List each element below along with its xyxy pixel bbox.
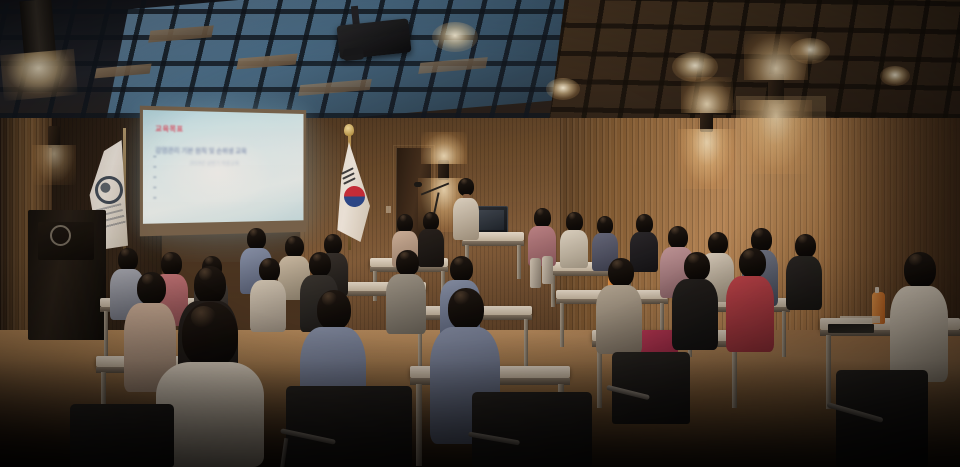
attendee-body: [890, 286, 948, 382]
attendee-head: [668, 226, 688, 249]
attendee-head: [182, 302, 238, 368]
slide-subtext: 2019년 상반기 직원교육: [190, 160, 239, 167]
attendee-head: [566, 212, 583, 232]
wall-sconce: [48, 126, 60, 148]
downlight-icon: [432, 22, 478, 52]
projection-screen-surface: 교육목표 감염관리 기본 원칙 및 손위생 교육 2019년 상반기 직원교육: [143, 110, 304, 224]
tumbler: [542, 256, 553, 284]
downlight-icon: [546, 78, 580, 100]
attendee-head: [608, 258, 634, 287]
conference-chair[interactable]: [472, 392, 592, 467]
attendee: [890, 252, 948, 382]
attendee-body: [560, 230, 588, 268]
sconce-uplight-glow: [421, 132, 467, 164]
sconce-downlight-glow: [32, 145, 76, 185]
notebook: [828, 324, 874, 333]
conference-chair[interactable]: [70, 404, 174, 467]
attendee-head: [450, 256, 473, 282]
sconce-downlight-glow: [678, 129, 736, 189]
attendee: [560, 212, 588, 268]
presenter: [452, 178, 480, 240]
attendee-head: [396, 250, 419, 276]
downlight-icon: [880, 66, 910, 86]
light-switch-plate[interactable]: [386, 206, 391, 213]
attendee-head: [118, 248, 138, 271]
attendee-body: [386, 274, 426, 334]
attendee-head: [534, 208, 551, 228]
attendee-body: [726, 276, 774, 352]
conference-chair[interactable]: [286, 386, 412, 467]
tumbler: [530, 258, 541, 288]
attendee-head: [448, 288, 484, 330]
attendee: [726, 248, 774, 352]
attendee-body: [596, 285, 642, 354]
attendee-head: [795, 234, 816, 258]
attendee-head: [137, 272, 166, 305]
wall-sconce: [768, 74, 784, 104]
attendee-head: [247, 228, 266, 250]
speaker-cabinet-logo-icon: [50, 225, 71, 246]
presenter-body: [453, 198, 479, 240]
attendee: [672, 252, 718, 350]
pendant-lamp-glow: [0, 49, 78, 101]
microphone-icon: [414, 182, 422, 187]
korean-flag-finial: [344, 124, 354, 136]
wall-sconce: [438, 160, 449, 180]
slide-bullet-marks: [153, 156, 158, 208]
attendee-head: [194, 266, 226, 304]
attendee-head: [636, 214, 653, 234]
attendee-body: [786, 256, 822, 310]
attendee-head: [259, 258, 280, 282]
seminar-room-photo: 교육목표 감염관리 기본 원칙 및 손위생 교육 2019년 상반기 직원교육: [0, 0, 960, 467]
attendee-head: [904, 252, 936, 288]
handout-paper: [840, 316, 880, 323]
attendee: [786, 234, 822, 310]
slide-title: 교육목표: [155, 124, 183, 135]
attendee-head: [684, 252, 710, 281]
attendee-head: [309, 252, 331, 277]
conference-chair[interactable]: [612, 352, 690, 424]
sconce-downlight-glow: [740, 100, 812, 174]
attendee: [596, 258, 642, 354]
attendee: [386, 250, 426, 334]
slide-heading: 감염관리 기본 원칙 및 손위생 교육: [155, 144, 246, 155]
wall-sconce: [700, 108, 713, 132]
attendee-head: [739, 248, 766, 278]
sconce-uplight-glow: [681, 77, 733, 113]
attendee-body: [672, 279, 718, 350]
conference-chair[interactable]: [836, 370, 928, 467]
projection-screen: 교육목표 감염관리 기본 원칙 및 손위생 교육 2019년 상반기 직원교육: [140, 106, 306, 237]
sconce-uplight-glow: [744, 34, 808, 80]
attendee-head: [317, 290, 351, 330]
